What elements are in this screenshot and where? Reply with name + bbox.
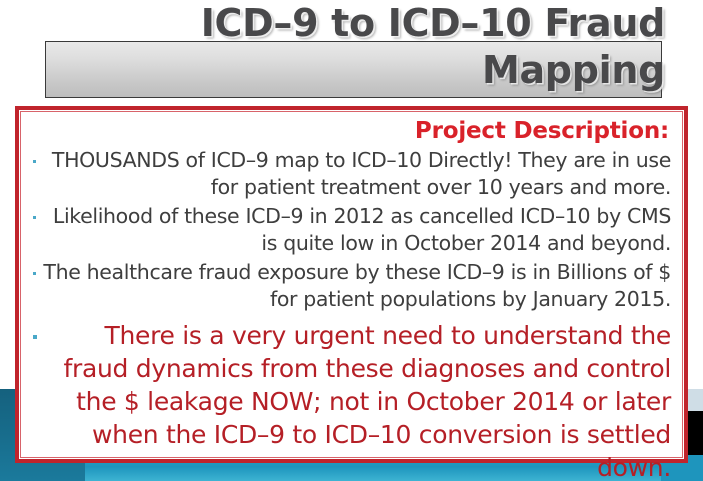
slide-canvas: ICD–9 to ICD–10 Fraud Mapping Project De…	[0, 0, 703, 481]
project-description-panel: Project Description: THOUSANDS of ICD–9 …	[15, 106, 688, 463]
list-item: The healthcare fraud exposure by these I…	[33, 259, 671, 313]
list-item: Likelihood of these ICD–9 in 2012 as can…	[33, 203, 671, 257]
page-title: ICD–9 to ICD–10 Fraud Mapping	[40, 0, 665, 94]
bullet-list: THOUSANDS of ICD–9 map to ICD–10 Directl…	[33, 147, 671, 481]
panel-heading: Project Description:	[33, 116, 669, 146]
list-item: THOUSANDS of ICD–9 map to ICD–10 Directl…	[33, 147, 671, 201]
list-item-emphasis: There is a very urgent need to understan…	[33, 319, 671, 481]
